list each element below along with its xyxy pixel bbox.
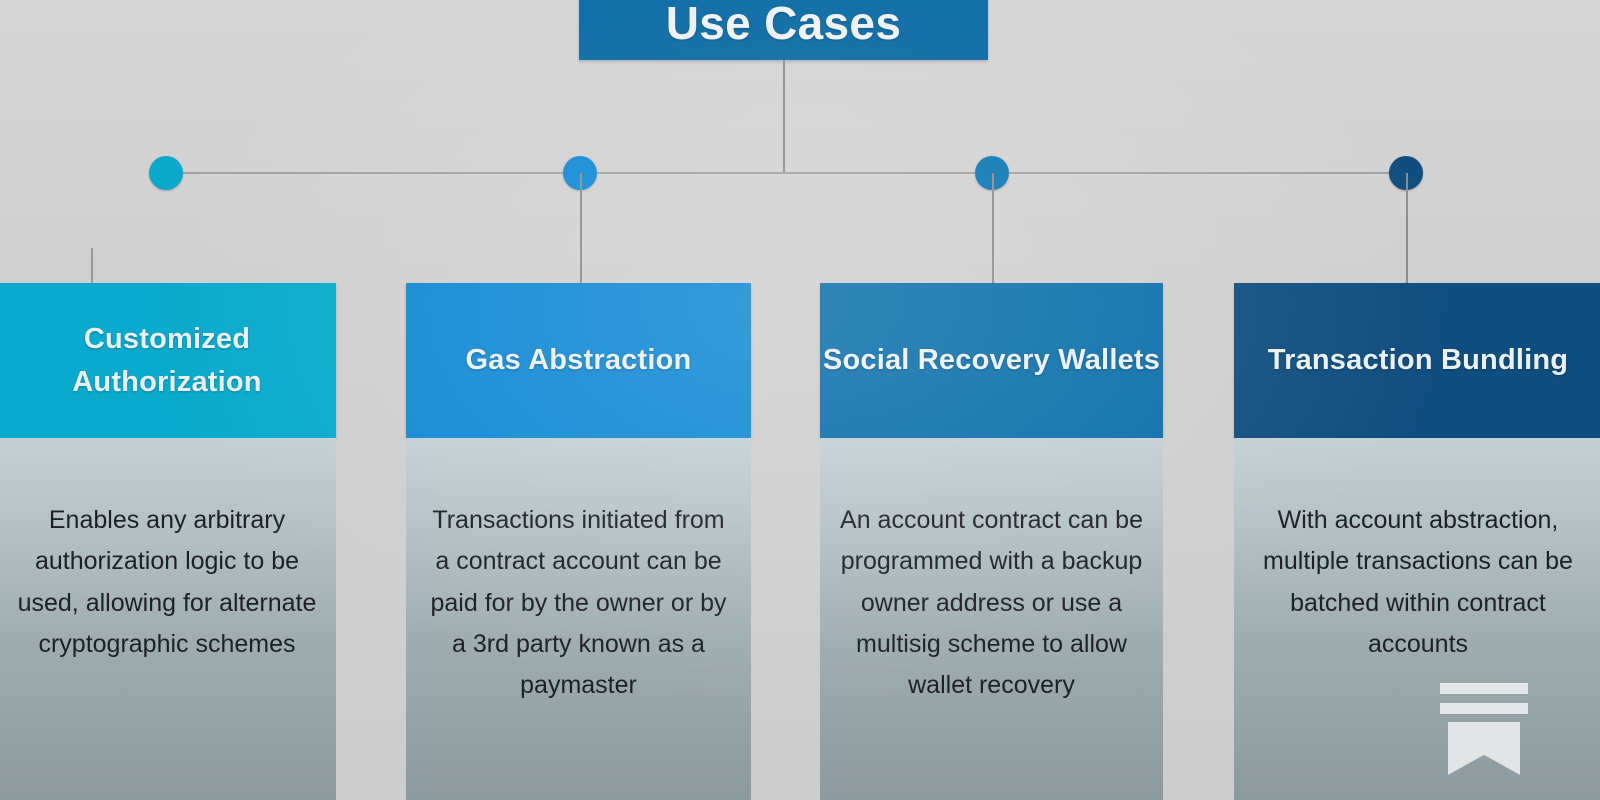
card-title: Transaction Bundling [1268,339,1568,381]
card-gas-abstraction[interactable]: Gas Abstraction Transactions initiated f… [406,283,751,800]
connector-drop-1 [91,248,93,284]
connector-drop-3 [992,173,994,283]
connector-trunk-vertical [783,60,785,173]
diagram-title-box: Use Cases [579,0,988,60]
connector-drop-4 [1406,173,1408,283]
connector-horizontal-bar [166,172,1407,174]
card-header: Customized Authorization [0,283,336,438]
page-title: Use Cases [666,0,901,60]
card-header: Social Recovery Wallets [820,283,1163,438]
card-title: Social Recovery Wallets [823,339,1160,381]
card-body: Enables any arbitrary authorization logi… [0,438,336,800]
card-customized-authorization[interactable]: Customized Authorization Enables any arb… [0,283,336,800]
card-header: Gas Abstraction [406,283,751,438]
card-description: Transactions initiated from a contract a… [424,500,733,706]
card-description: An account contract can be programmed wi… [838,500,1145,706]
card-description: Enables any arbitrary authorization logi… [16,500,318,665]
card-description: With account abstraction, multiple trans… [1252,500,1584,665]
card-social-recovery-wallets[interactable]: Social Recovery Wallets An account contr… [820,283,1163,800]
card-body: An account contract can be programmed wi… [820,438,1163,800]
diagram-canvas: Use Cases Customized Authorization Enabl… [0,0,1600,800]
card-header: Transaction Bundling [1234,283,1600,438]
card-title: Gas Abstraction [466,339,692,381]
card-transaction-bundling[interactable]: Transaction Bundling With account abstra… [1234,283,1600,800]
connector-drop-2 [580,173,582,283]
card-body: With account abstraction, multiple trans… [1234,438,1600,800]
card-body: Transactions initiated from a contract a… [406,438,751,800]
card-title: Customized Authorization [0,318,336,402]
node-customized-authorization[interactable] [149,156,183,190]
